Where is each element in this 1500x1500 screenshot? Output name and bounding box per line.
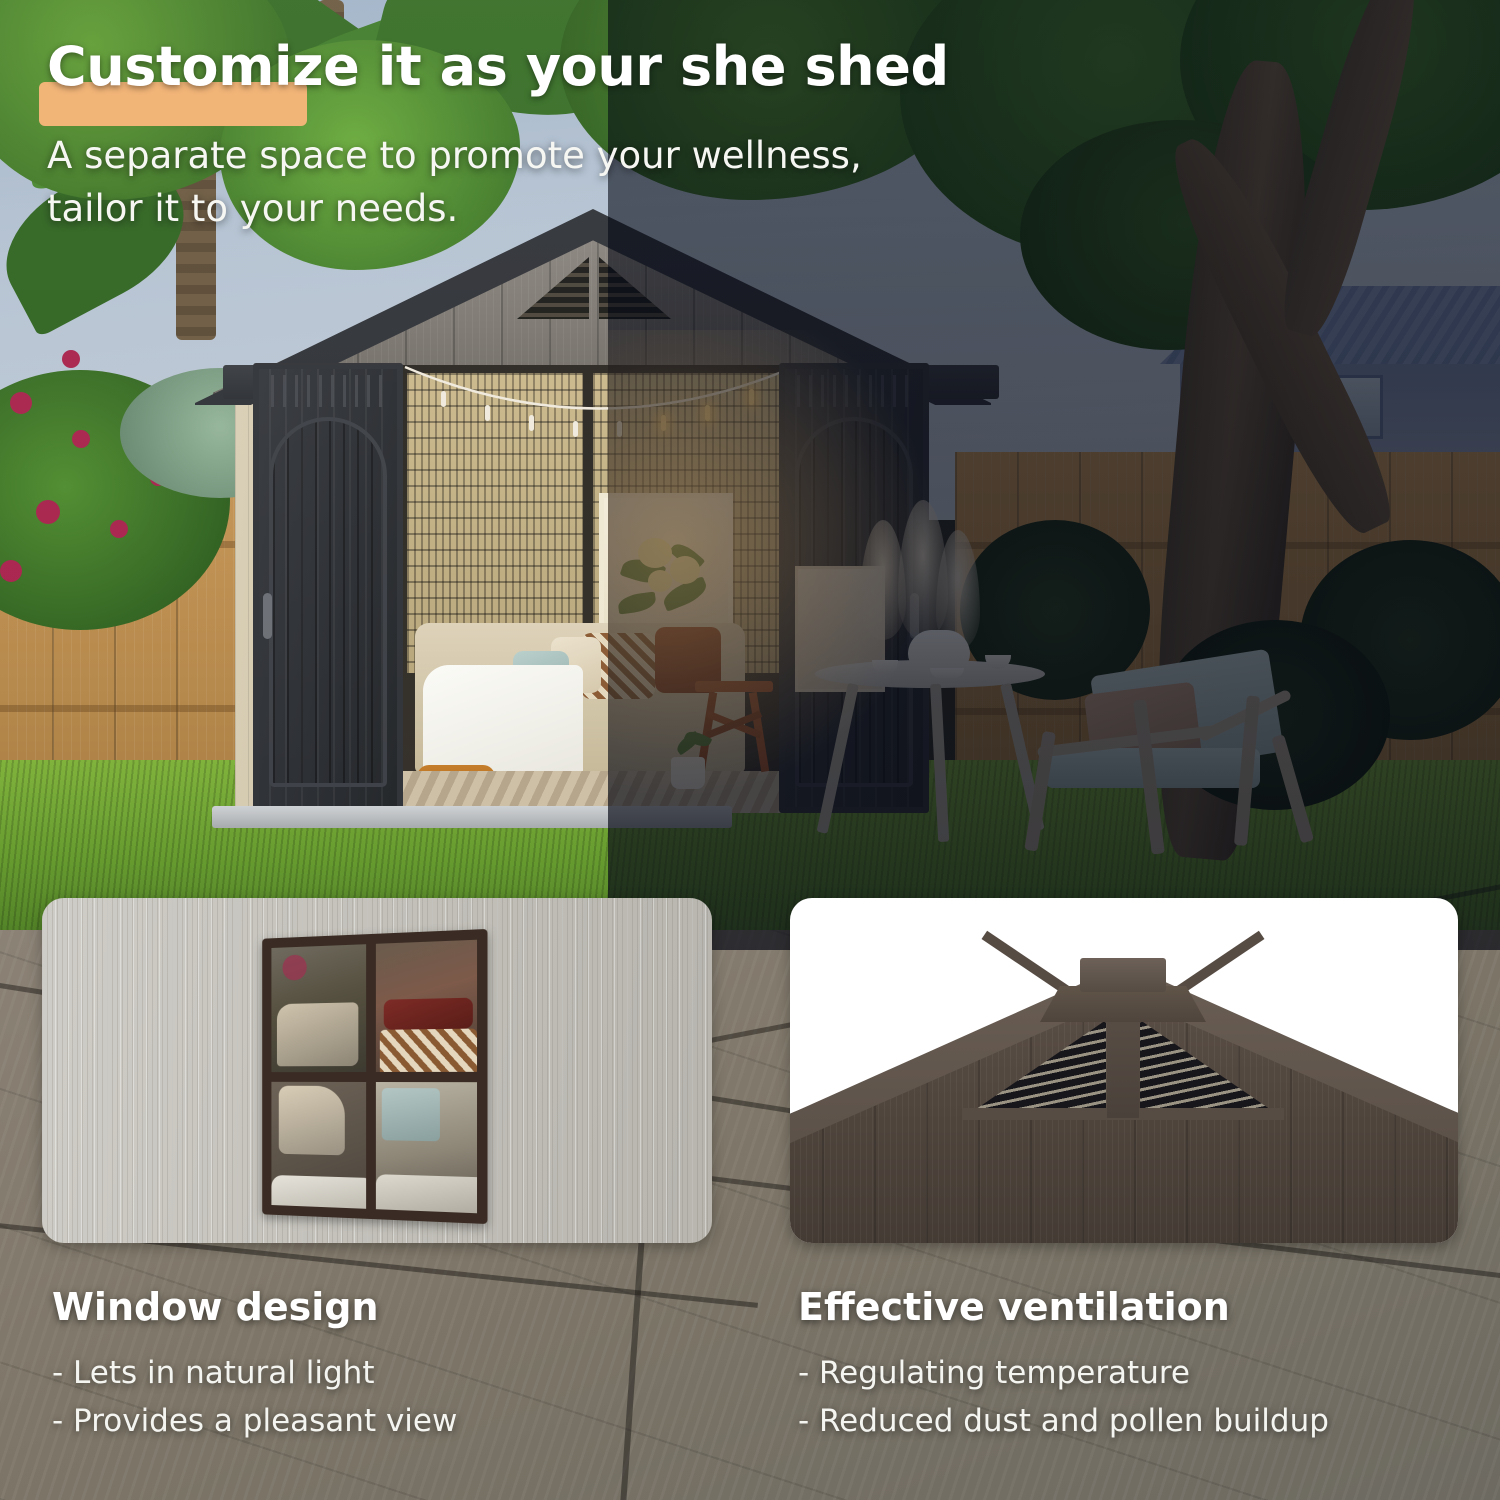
shrub-bloom	[72, 430, 90, 448]
subheadline-line1: A separate space to promote your wellnes…	[47, 130, 1097, 183]
string-lights	[401, 363, 793, 441]
vent-center-post	[1107, 1018, 1139, 1118]
door-handle[interactable]	[263, 593, 272, 639]
window-pane	[376, 1082, 477, 1214]
window-pane	[271, 944, 366, 1071]
feature-bullet: - Regulating temperature	[798, 1355, 1458, 1391]
botanical-artwork	[599, 493, 733, 639]
feature-card-window	[42, 898, 712, 1243]
caption-window-design: Window design - Lets in natural light - …	[52, 1285, 712, 1451]
window-closeup	[262, 929, 487, 1224]
roof-cap	[1080, 958, 1166, 992]
feature-bullet: - Lets in natural light	[52, 1355, 712, 1391]
feature-title: Effective ventilation	[798, 1285, 1458, 1329]
window-pane	[271, 1081, 366, 1208]
door-trim-dots	[797, 375, 911, 407]
saucer-plate	[930, 668, 964, 678]
subheadline-line2: tailor it to your needs.	[47, 183, 1097, 236]
teapot	[908, 630, 970, 672]
chair-leg	[1024, 731, 1056, 852]
shrub-bloom	[36, 500, 60, 524]
shrub-bloom	[110, 520, 128, 538]
feature-card-ventilation	[790, 898, 1458, 1243]
side-table	[695, 681, 773, 773]
shed-door-left[interactable]	[253, 363, 403, 813]
subheadline: A separate space to promote your wellnes…	[47, 130, 1097, 235]
feature-bullet: - Reduced dust and pollen buildup	[798, 1403, 1458, 1439]
window-pane	[376, 940, 477, 1072]
gable-vent-closeup	[790, 898, 1458, 1243]
product-feature-image: Customize it as your she shed A separate…	[0, 0, 1500, 1500]
shrub-bloom	[0, 560, 22, 582]
shrub-bloom	[62, 350, 80, 368]
feature-bullet: - Provides a pleasant view	[52, 1403, 712, 1439]
potted-plant	[671, 757, 705, 789]
lounge-chair	[1015, 640, 1305, 855]
headline-text: Customize it as your she shed	[47, 35, 949, 98]
she-shed	[195, 215, 985, 855]
door-trim-dots	[271, 375, 385, 407]
caption-effective-ventilation: Effective ventilation - Regulating tempe…	[798, 1285, 1458, 1451]
headline: Customize it as your she shed	[47, 38, 1427, 95]
door-panel	[269, 417, 387, 787]
shrub-bloom	[10, 392, 32, 414]
feature-title: Window design	[52, 1285, 712, 1329]
shed-foundation	[212, 806, 732, 828]
